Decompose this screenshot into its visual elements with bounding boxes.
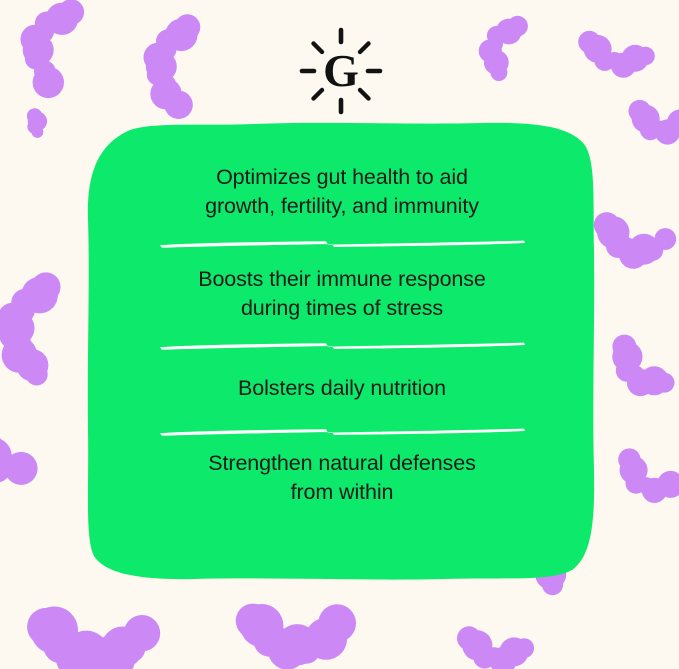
bacteria-blob-node bbox=[514, 638, 534, 658]
bacteria-blob-node bbox=[640, 119, 661, 140]
bacteria-blob-node bbox=[124, 615, 160, 651]
bacteria-blob-node bbox=[473, 646, 496, 669]
bacteria-blob-node bbox=[584, 35, 612, 63]
bacteria-blob-node bbox=[88, 638, 120, 669]
bacteria-blob-node bbox=[157, 40, 177, 60]
bacteria-blob-node bbox=[146, 51, 177, 82]
bacteria-blob-node bbox=[606, 234, 630, 258]
bacteria-blob-node bbox=[0, 455, 10, 482]
bacteria-blob-node bbox=[318, 604, 356, 642]
sun-g-logo: G bbox=[296, 26, 386, 116]
bacteria-blob-node bbox=[31, 607, 78, 654]
bacteria-blob-node bbox=[0, 432, 3, 461]
bacteria-blob-node bbox=[277, 624, 318, 665]
bacteria-blob-node bbox=[175, 14, 201, 40]
bacteria-blob-node bbox=[642, 240, 663, 261]
bacteria-blob-node bbox=[55, 631, 84, 660]
bacteria-blob-node bbox=[2, 337, 38, 373]
bacteria-blob-node bbox=[27, 108, 42, 123]
bacteria-blob-node bbox=[479, 39, 502, 62]
promo-graphic: G Optimizes gut health to aid growth, fe… bbox=[0, 0, 679, 669]
bacteria-blob-node bbox=[620, 456, 648, 484]
bacteria-blob-node bbox=[43, 628, 78, 663]
bacteria-blob-node bbox=[642, 478, 667, 503]
bacteria-blob-node bbox=[654, 228, 676, 250]
bacteria-blob-node bbox=[46, 3, 78, 35]
bacteria-blob-node bbox=[578, 31, 600, 53]
bacteria-blob-node bbox=[102, 627, 144, 669]
bacteria-blob-node bbox=[651, 121, 668, 138]
bacteria-blob-node bbox=[626, 366, 644, 384]
bacteria-blob-node bbox=[156, 29, 180, 53]
bacteria-blob-node bbox=[5, 452, 38, 485]
bacteria-blob-node bbox=[0, 438, 12, 475]
bacteria-blob-node bbox=[58, 0, 84, 25]
bacteria-blob-node bbox=[266, 627, 292, 653]
bacteria-blob-node bbox=[667, 109, 679, 136]
bacteria-blob-node bbox=[32, 126, 44, 138]
bacteria-blob-node bbox=[616, 359, 639, 382]
bacteria-blob-node bbox=[627, 369, 654, 396]
bacteria-blob-node bbox=[11, 289, 38, 316]
bacteria-blob-node bbox=[240, 604, 283, 647]
list-item: Optimizes gut health to aid growth, fert… bbox=[84, 148, 600, 236]
bacteria-blob-node bbox=[622, 45, 649, 72]
bacteria-blob-node bbox=[629, 100, 651, 122]
bacteria-blob-node bbox=[487, 36, 503, 52]
bacteria-blob-node bbox=[21, 277, 58, 314]
benefit-text-2: Bolsters daily nutrition bbox=[127, 374, 557, 403]
bacteria-blob-node bbox=[26, 364, 48, 386]
bacteria-blob-node bbox=[632, 105, 660, 133]
bacteria-blob-node bbox=[0, 325, 24, 349]
bacteria-blob-node bbox=[0, 311, 35, 346]
bacteria-blob-node bbox=[150, 78, 181, 109]
bacteria-blob-node bbox=[305, 618, 347, 660]
bacteria-blob-node bbox=[489, 647, 516, 669]
bacteria-blob-node bbox=[254, 625, 286, 657]
benefit-text-1: Boosts their immune response during time… bbox=[127, 265, 557, 322]
bacteria-blob-node bbox=[606, 52, 623, 69]
bacteria-blob-node bbox=[487, 26, 506, 45]
bacteria-blob-node bbox=[23, 35, 54, 66]
bacteria-blob-node bbox=[500, 637, 529, 666]
bacteria-blob-node bbox=[79, 646, 110, 669]
bacteria-blob-node bbox=[636, 47, 654, 65]
bacteria-blob-node bbox=[34, 61, 56, 83]
bacteria-blob-node bbox=[638, 477, 655, 494]
bacteria-blob-node bbox=[236, 604, 270, 638]
bacteria-blob-node bbox=[164, 91, 192, 119]
bacteria-blob-node bbox=[617, 237, 637, 257]
bacteria-blob-node bbox=[655, 373, 675, 393]
bacteria-blob-node bbox=[154, 74, 176, 96]
bacteria-blob-node bbox=[457, 626, 481, 650]
bacteria-blob-node bbox=[485, 647, 503, 665]
bacteria-blob-node bbox=[56, 636, 99, 669]
bacteria-blob-node bbox=[12, 300, 34, 322]
bacteria-blob-node bbox=[25, 48, 46, 69]
bacteria-blob-node bbox=[657, 471, 679, 498]
list-item: Strengthen natural defenses from within bbox=[84, 438, 600, 518]
bacteria-blob-node bbox=[117, 634, 146, 663]
bacteria-blob-node bbox=[611, 53, 636, 78]
bacteria-blob-node bbox=[612, 342, 642, 372]
bacteria-blob-node bbox=[165, 19, 197, 51]
bacteria-blob-node bbox=[302, 625, 331, 654]
bacteria-blob-node bbox=[619, 240, 648, 269]
bacteria-blob-node bbox=[21, 25, 50, 54]
bacteria-blob-node bbox=[612, 335, 636, 359]
bacteria-blob-node bbox=[594, 50, 615, 71]
bacteria-blob-node bbox=[16, 349, 48, 381]
divider-2 bbox=[158, 424, 526, 438]
bacteria-blob-node bbox=[0, 303, 30, 336]
bacteria-blob-node bbox=[89, 635, 135, 669]
list-item: Bolsters daily nutrition bbox=[84, 352, 600, 424]
bacteria-blob-node bbox=[147, 64, 168, 85]
bacteria-blob-node bbox=[626, 473, 647, 494]
bacteria-blob-node bbox=[27, 608, 65, 646]
logo-letter: G bbox=[323, 45, 359, 96]
benefit-text-3: Strengthen natural defenses from within bbox=[127, 449, 557, 506]
bacteria-blob-node bbox=[64, 631, 110, 669]
bacteria-blob-node bbox=[490, 64, 507, 81]
bacteria-blob-node bbox=[33, 67, 64, 98]
bacteria-blob-node bbox=[268, 631, 307, 669]
bacteria-blob-node bbox=[640, 366, 669, 395]
list-item: Boosts their immune response during time… bbox=[84, 250, 600, 338]
bacteria-blob-node bbox=[628, 234, 659, 265]
bacteria-blob-node bbox=[655, 119, 679, 144]
benefits-card: Optimizes gut health to aid growth, fert… bbox=[84, 120, 600, 582]
bacteria-blob-node bbox=[597, 216, 629, 248]
bacteria-blob-node bbox=[507, 16, 528, 37]
bacteria-blob-node bbox=[27, 120, 41, 134]
bacteria-blob-node bbox=[618, 448, 640, 470]
bacteria-blob-node bbox=[0, 456, 21, 478]
bacteria-blob-node bbox=[34, 23, 54, 43]
bacteria-blob-node bbox=[144, 43, 173, 72]
bacteria-blob-node bbox=[28, 112, 47, 131]
bacteria-blob-node bbox=[7, 334, 32, 359]
bacteria-blob-node bbox=[31, 272, 60, 301]
divider-1 bbox=[158, 338, 526, 352]
divider-0 bbox=[158, 236, 526, 250]
benefit-text-0: Optimizes gut health to aid growth, fert… bbox=[127, 163, 557, 220]
bacteria-blob-node bbox=[462, 630, 492, 660]
benefits-list: Optimizes gut health to aid growth, fert… bbox=[84, 120, 600, 582]
bacteria-blob-node bbox=[292, 636, 320, 664]
bacteria-blob-node bbox=[35, 12, 59, 36]
bacteria-blob-node bbox=[484, 50, 509, 75]
bacteria-blob-node bbox=[496, 19, 522, 45]
